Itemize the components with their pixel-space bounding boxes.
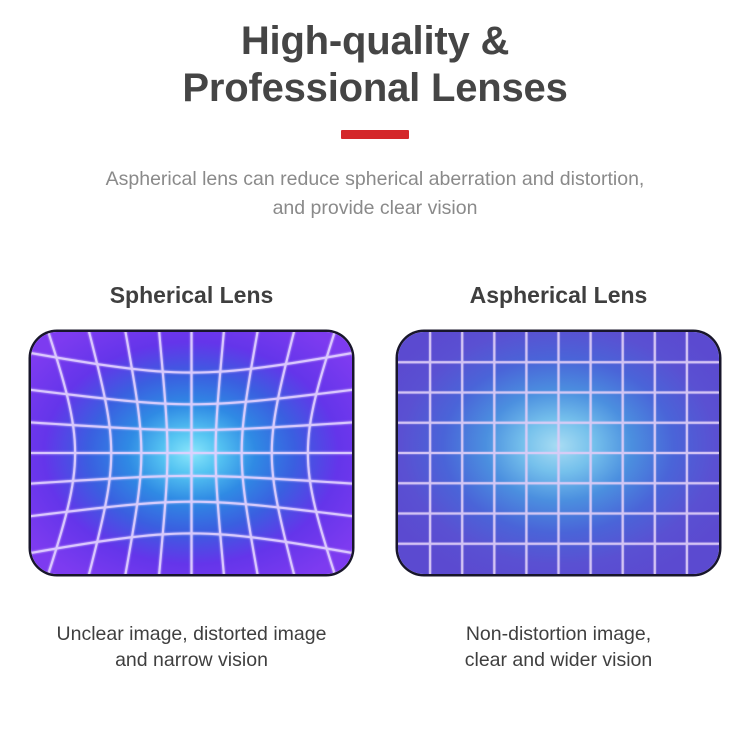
panel-heading-aspherical: Aspherical Lens [470, 282, 648, 309]
page-subtitle: Aspherical lens can reduce spherical abe… [25, 165, 725, 222]
panel-caption-aspherical-line-2: clear and wider vision [394, 648, 724, 674]
page-title-line-2: Professional Lenses [0, 65, 750, 112]
header: High-quality & Professional Lenses Asphe… [0, 0, 750, 222]
lens-image-spherical-distorted-grid [31, 332, 352, 574]
panel-aspherical-lens: Aspherical Lens [398, 282, 719, 674]
panel-spherical-lens: Spherical Lens [31, 282, 352, 674]
panel-caption-aspherical-line-1: Non-distortion image, [394, 622, 724, 648]
panel-caption-aspherical: Non-distortion image, clear and wider vi… [394, 622, 724, 674]
panel-caption-spherical-line-1: Unclear image, distorted image [27, 622, 357, 648]
panel-caption-spherical: Unclear image, distorted image and narro… [27, 622, 357, 674]
page-subtitle-line-2: and provide clear vision [25, 194, 725, 222]
lens-panel-row: Spherical Lens [0, 282, 750, 674]
accent-divider-bar [341, 130, 409, 139]
panel-heading-spherical: Spherical Lens [110, 282, 274, 309]
aspherical-grid-svg [398, 332, 719, 574]
lens-image-aspherical-regular-grid [398, 332, 719, 574]
page-title-line-1: High-quality & [0, 18, 750, 65]
panel-caption-spherical-line-2: and narrow vision [27, 648, 357, 674]
page-subtitle-line-1: Aspherical lens can reduce spherical abe… [25, 165, 725, 193]
spherical-grid-svg [31, 332, 352, 574]
lens-comparison-section: Spherical Lens [0, 282, 750, 674]
page-title: High-quality & Professional Lenses [0, 18, 750, 112]
